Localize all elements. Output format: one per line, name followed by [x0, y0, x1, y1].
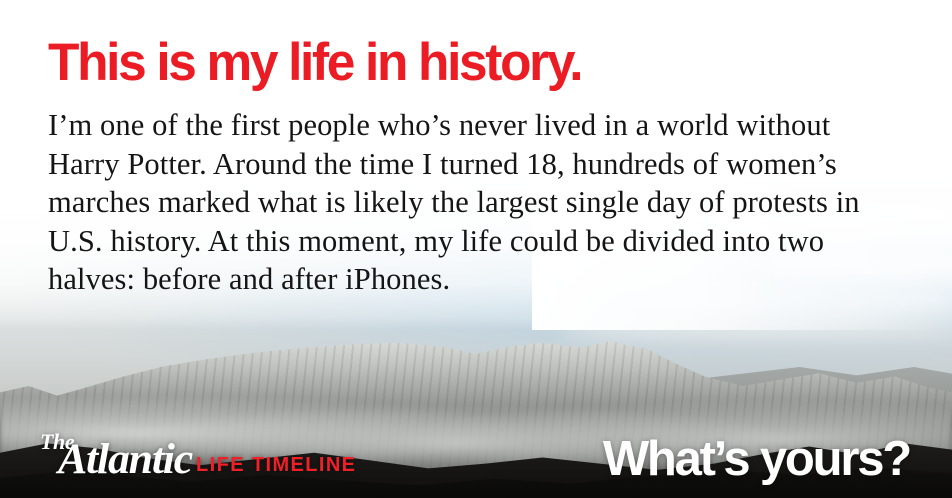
body-paragraph: I’m one of the first people who’s never …: [48, 106, 900, 299]
life-timeline-share-card: This is my life in history. I’m one of t…: [0, 0, 952, 498]
brand-lockup[interactable]: The Atlantic LIFE TIMELINE: [38, 432, 356, 482]
life-timeline-tagline: LIFE TIMELINE: [196, 455, 356, 475]
logo-atlantic-word: Atlantic: [58, 438, 192, 481]
atlantic-logo[interactable]: The Atlantic: [38, 432, 190, 482]
cta-whats-yours[interactable]: What’s yours?: [603, 435, 910, 484]
page-title: This is my life in history.: [48, 36, 882, 89]
copy-block: This is my life in history. I’m one of t…: [48, 36, 908, 299]
